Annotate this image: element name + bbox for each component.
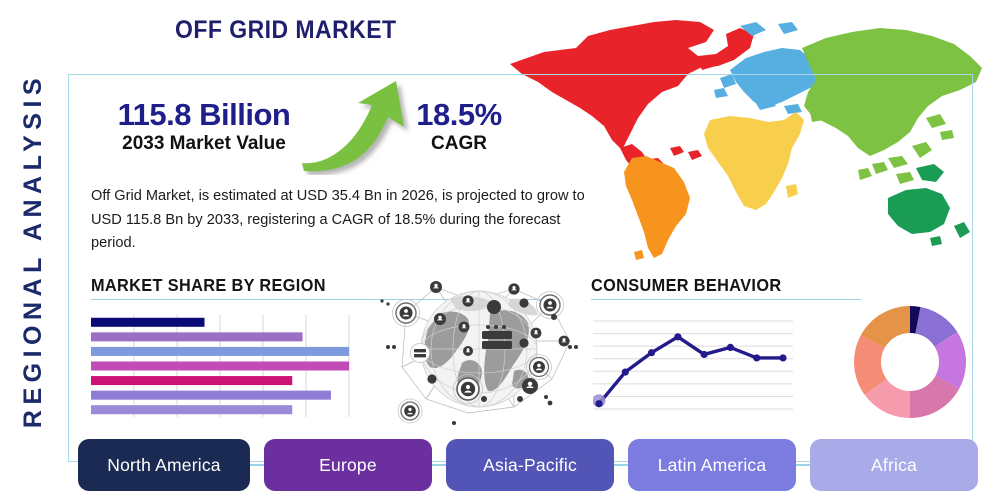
region-pill-latin-america[interactable]: Latin America — [628, 439, 796, 491]
data-point — [595, 400, 602, 407]
region-pill-label: Africa — [871, 455, 917, 476]
region-pill-asia-pacific[interactable]: Asia-Pacific — [446, 439, 614, 491]
pill-connector — [796, 464, 810, 465]
market-share-title: MARKET SHARE BY REGION — [91, 275, 333, 296]
bar — [91, 332, 303, 341]
global-network-illustration — [364, 271, 594, 436]
server-rack-icon — [411, 344, 430, 363]
consumer-behavior-title: CONSUMER BEHAVIOR — [591, 275, 791, 296]
pill-connector — [614, 464, 628, 465]
region-pill-label: North America — [107, 455, 220, 476]
bar — [91, 391, 331, 400]
region-pill-label: Asia-Pacific — [483, 455, 577, 476]
network-node-icon — [527, 355, 552, 380]
region-pill-row: North AmericaEuropeAsia-PacificLatin Ame… — [78, 438, 978, 492]
network-node-icon — [537, 292, 564, 319]
market-value-number: 115.8 Billion — [89, 99, 319, 132]
consumer-behavior-section-header: CONSUMER BEHAVIOR — [591, 275, 806, 296]
data-point — [779, 354, 786, 361]
side-label-text: REGIONAL ANALYSIS — [20, 72, 49, 427]
consumer-behavior-line-chart — [593, 313, 793, 419]
bar — [91, 318, 205, 327]
bar — [91, 376, 292, 385]
main-card: 115.8 Billion 2033 Market Value 18.5% CA… — [68, 74, 973, 462]
bar — [91, 361, 349, 370]
data-point — [648, 349, 655, 356]
pill-connector — [432, 464, 446, 465]
region-pill-label: Latin America — [658, 455, 767, 476]
network-node-icon — [454, 375, 483, 404]
region-pill-europe[interactable]: Europe — [264, 439, 432, 491]
data-point — [674, 333, 681, 340]
market-value-caption: 2033 Market Value — [89, 133, 319, 156]
kpi-row: 115.8 Billion 2033 Market Value 18.5% CA… — [69, 75, 589, 175]
infographic-root: REGIONAL ANALYSIS OFF GRID MARKET — [0, 0, 1000, 500]
bar — [91, 405, 292, 414]
consumer-behavior-donut-chart — [851, 303, 969, 421]
market-share-section-header: MARKET SHARE BY REGION — [91, 275, 351, 296]
region-pill-label: Europe — [319, 455, 377, 476]
cagr-number: 18.5% — [389, 99, 529, 132]
bar — [91, 347, 349, 356]
network-node-icon — [398, 399, 422, 423]
description-text: Off Grid Market, is estimated at USD 35.… — [91, 185, 596, 256]
cagr-kpi: 18.5% CAGR — [389, 99, 529, 155]
side-label: REGIONAL ANALYSIS — [6, 0, 62, 500]
data-point — [753, 354, 760, 361]
page-title: OFF GRID MARKET — [175, 16, 397, 45]
region-pill-africa[interactable]: Africa — [810, 439, 978, 491]
cagr-caption: CAGR — [389, 133, 529, 156]
region-pill-north-america[interactable]: North America — [78, 439, 250, 491]
network-node-icon — [393, 300, 420, 327]
data-point — [622, 368, 629, 375]
consumer-behavior-underline — [591, 299, 861, 300]
data-point — [701, 351, 708, 358]
data-point — [727, 344, 734, 351]
market-share-bar-chart — [91, 315, 353, 417]
pill-connector — [250, 464, 264, 465]
market-value-kpi: 115.8 Billion 2033 Market Value — [89, 99, 319, 155]
